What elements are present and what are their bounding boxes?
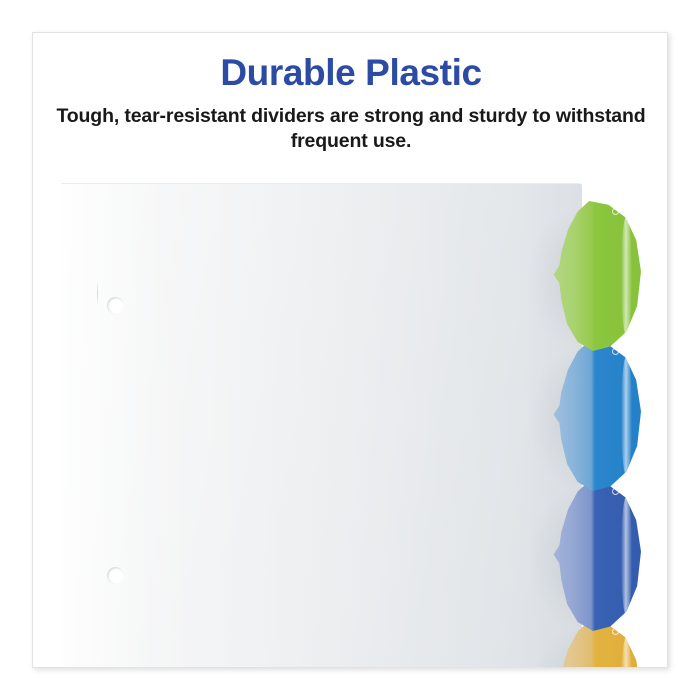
divider-tab-blue-body <box>545 341 641 491</box>
divider-tab-indigo-body <box>545 481 641 631</box>
feature-card: Durable Plastic Tough, tear-resistant di… <box>32 32 668 668</box>
headline-block: Durable Plastic Tough, tear-resistant di… <box>33 51 668 154</box>
sheet-crease <box>97 280 98 306</box>
divider-tab-indigo <box>545 481 641 631</box>
frosted-divider-sheet <box>61 183 582 668</box>
binder-hole-bottom <box>107 567 124 584</box>
product-photo <box>33 173 668 668</box>
product-feature-image: Durable Plastic Tough, tear-resistant di… <box>0 0 700 700</box>
divider-tab-green-body <box>545 201 641 351</box>
page-subtitle: Tough, tear-resistant dividers are stron… <box>33 104 668 154</box>
divider-tab-blue <box>545 341 641 491</box>
sheet-sheen <box>61 184 581 668</box>
binder-hole-top <box>107 297 124 314</box>
page-title: Durable Plastic <box>33 51 668 95</box>
divider-tab-green <box>545 201 641 351</box>
